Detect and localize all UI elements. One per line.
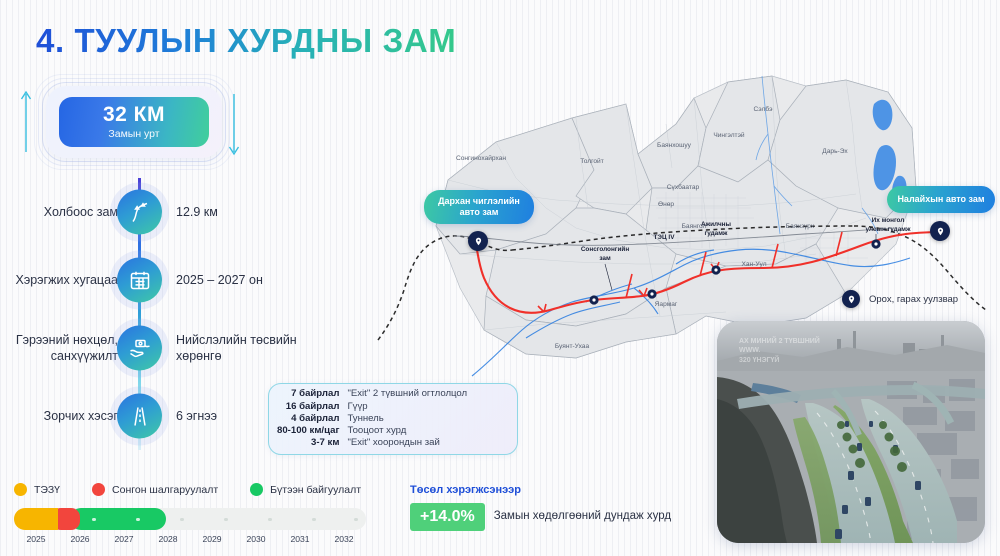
- spec-key: 7 байрлал: [277, 388, 339, 400]
- hero-card: 32 КМ Замын урт: [59, 97, 209, 147]
- spec-key: 4 байрлал: [277, 413, 339, 425]
- arrow-up-icon: [18, 88, 34, 154]
- road-length-card: 32 КМ Замын урт: [46, 86, 222, 158]
- legend-item-tender: Сонгон шалгаруулалт: [92, 483, 218, 496]
- map-district-label: Хан-Уул: [741, 261, 766, 268]
- road-curve-icon: [117, 190, 162, 235]
- legend-item-tezu: ТЭЗҮ: [14, 483, 60, 496]
- specs-table: 7 байрлал "Exit" 2 түвшний огтлолцол 16 …: [277, 388, 467, 449]
- hand-money-icon: [117, 326, 162, 371]
- spec-value: Тооцоот хурд: [347, 425, 467, 437]
- road-specs-box: 7 байрлал "Exit" 2 түвшний огтлолцол 16 …: [268, 383, 518, 455]
- timeline-tick: [312, 518, 316, 522]
- map-pill-darkhan-road[interactable]: Дархан чиглэлийн авто зам: [424, 190, 534, 224]
- outcome-badge: +14.0%: [410, 503, 485, 531]
- map-district-label: Дарь-Эх: [822, 148, 848, 155]
- lanes-icon: [117, 394, 162, 439]
- spec-value: Гүүр: [347, 401, 467, 413]
- detail-label: Зорчих хэсэг: [0, 408, 118, 424]
- timeline-tick: [136, 518, 140, 522]
- map-road-label: Сонсголонгийн: [581, 245, 630, 253]
- page-title: 4. ТУУЛЫН ХУРДНЫ ЗАМ: [36, 22, 456, 60]
- timeline-year-labels: 2025 2026 2027 2028 2029 2030 2031 2032: [14, 534, 366, 544]
- map-district-label: Буянт-Ухаа: [555, 343, 590, 350]
- hero-value: 32 КМ: [103, 104, 165, 126]
- map-district-label: Сонгинохайрхан: [456, 154, 506, 162]
- photo-watermark: AX МИНИЙ 2 ТҮВШНИЙWWW.320 ҮНЭГҮЙ: [739, 337, 820, 365]
- timeline-tick: [268, 518, 272, 522]
- detail-row-link-road: Холбоос зам 12.9 км: [0, 178, 330, 246]
- year-label: 2028: [146, 534, 190, 544]
- hero-label: Замын урт: [108, 128, 159, 140]
- year-label: 2032: [322, 534, 366, 544]
- map-legend-label: Орох, гарах уулзвар: [869, 294, 958, 305]
- year-label: 2030: [234, 534, 278, 544]
- timeline-tick: [224, 518, 228, 522]
- year-label: 2027: [102, 534, 146, 544]
- spec-key: 16 байрлал: [277, 401, 339, 413]
- map-pin-east-interchange[interactable]: [930, 221, 950, 241]
- map-road-label: Их монгол: [872, 217, 905, 224]
- map-district-label: Сэлбэ: [754, 105, 774, 113]
- map-district-label: Толгойт: [580, 157, 604, 165]
- spec-key: 80-100 км/цаг: [277, 425, 339, 437]
- map-district-label: Баянхошуу: [657, 142, 692, 149]
- timeline-segment-construction: [70, 508, 166, 530]
- map-pill-nalaikh-road[interactable]: Налайхын авто зам: [887, 186, 995, 213]
- highway-render-photo: AX МИНИЙ 2 ТҮВШНИЙWWW.320 ҮНЭГҮЙ: [717, 321, 985, 543]
- project-outcome: Төсөл хэрэгжсэнээр +14.0% Замын хөдөлгөө…: [410, 484, 671, 531]
- outcome-row: +14.0% Замын хөдөлгөөний дундаж хурд: [410, 503, 671, 531]
- project-timeline-bar: [14, 508, 366, 530]
- timeline-tick: [354, 518, 358, 522]
- detail-value: 2025 – 2027 он: [176, 272, 326, 288]
- year-label: 2025: [14, 534, 58, 544]
- detail-row-financing: Гэрээний нөхцөл, санхүүжилт Нийслэлийн т…: [0, 314, 330, 382]
- detail-row-duration: Хэрэгжих хугацаа 2025 – 2027 он: [0, 246, 330, 314]
- spec-key: 3-7 км: [277, 437, 339, 449]
- phase-legend: ТЭЗҮ Сонгон шалгаруулалт Бүтээн байгуула…: [14, 483, 361, 496]
- map-road-label: ТЭЦ IV: [654, 234, 676, 241]
- map-road-label: Ажилчны: [701, 221, 732, 228]
- legend-item-construction: Бүтээн байгуулалт: [250, 483, 361, 496]
- map-district-label: Өнөр: [658, 201, 674, 208]
- year-label: 2026: [58, 534, 102, 544]
- map-road-label: зам: [599, 255, 611, 262]
- legend-label: Сонгон шалгаруулалт: [112, 484, 218, 496]
- timeline-tick: [180, 518, 184, 522]
- timeline-tick: [92, 518, 96, 522]
- spec-value: Туннель: [347, 413, 467, 425]
- arrow-down-icon: [226, 92, 242, 158]
- outcome-title: Төсөл хэрэгжсэнээр: [410, 484, 671, 496]
- map-road-label: гудамж: [705, 230, 728, 237]
- detail-label: Гэрээний нөхцөл, санхүүжилт: [0, 332, 118, 364]
- map-legend-interchange: Орох, гарах уулзвар: [842, 290, 958, 308]
- map-district-label: Яармаг: [655, 301, 678, 308]
- map-district-label: Чингэлтэй: [713, 131, 745, 139]
- detail-label: Холбоос зам: [0, 204, 118, 220]
- detail-value: 12.9 км: [176, 204, 326, 220]
- legend-label: Бүтээн байгуулалт: [270, 484, 361, 496]
- timeline-segment-tezu: [14, 508, 58, 530]
- year-label: 2029: [190, 534, 234, 544]
- map-pin-icon: [842, 290, 860, 308]
- map-pin-west-interchange[interactable]: [468, 231, 488, 251]
- map-district-label: Сүхбаатар: [667, 183, 700, 191]
- legend-dot: [250, 483, 263, 496]
- map-road-label: улсын гудамж: [865, 226, 910, 233]
- spec-value: "Exit" хоорондын зай: [347, 437, 467, 449]
- map-district-label: Баянзүрх: [786, 223, 815, 230]
- calendar-icon: [117, 258, 162, 303]
- legend-dot: [14, 483, 27, 496]
- detail-value: Нийслэлийн төсвийн хөрөнгө: [176, 332, 326, 365]
- legend-dot: [92, 483, 105, 496]
- year-label: 2031: [278, 534, 322, 544]
- spec-value: "Exit" 2 түвшний огтлолцол: [347, 388, 467, 400]
- outcome-text: Замын хөдөлгөөний дундаж хурд: [494, 509, 671, 524]
- detail-label: Хэрэгжих хугацаа: [0, 272, 118, 288]
- legend-label: ТЭЗҮ: [34, 484, 60, 496]
